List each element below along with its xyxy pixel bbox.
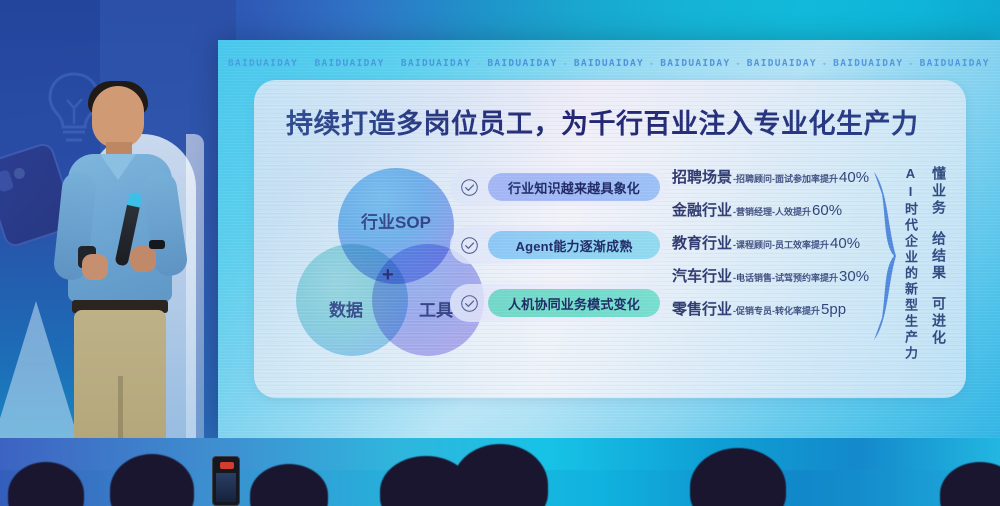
- speaker-hand-left: [82, 254, 108, 280]
- circle-check-icon: [460, 294, 479, 313]
- industry-detail: -招聘顾问-面试参加率提升: [733, 172, 838, 185]
- slide-content-card: 持续打造多岗位员工，为千行百业注入专业化生产力 行业SOP 数据 工具 +: [254, 80, 966, 398]
- trend-pill-label: 人机协同业务模式变化: [488, 289, 660, 317]
- screenshot-root: BAIDUAIDAY✦BAIDUAIDAY✦BAIDUAIDAY✦BAIDUAI…: [0, 0, 1000, 506]
- watermark-word: BAIDUAIDAY: [487, 58, 557, 69]
- industry-detail: -促销专员-转化率提升: [733, 304, 820, 317]
- industry-metric: 30%: [839, 268, 869, 285]
- industry-result-row: 招聘场景 -招聘顾问-面试参加率提升 40%: [672, 166, 898, 199]
- watermark-separator-icon: ✦: [649, 59, 655, 68]
- industry-metric: 60%: [812, 202, 842, 219]
- watermark-word: BAIDUAIDAY: [574, 58, 644, 69]
- venn-plus-operator: +: [382, 264, 394, 287]
- speaker-hand-right: [130, 246, 156, 272]
- trend-pill-label: 行业知识越来越具象化: [488, 173, 660, 201]
- industry-detail: -课程顾问-员工效率提升: [733, 238, 829, 251]
- phone-camera-lens-secondary: [12, 166, 26, 180]
- phone-camera-lens: [0, 169, 14, 192]
- watermark-word: BAIDUAIDAY: [314, 58, 384, 69]
- brace-arrow-icon: [872, 168, 900, 344]
- watermark-word: BAIDUAIDAY: [833, 58, 903, 69]
- watermark-word: BAIDUAIDAY: [660, 58, 730, 69]
- slide-title: 持续打造多岗位员工，为千行百业注入专业化生产力: [286, 102, 919, 141]
- watermark-separator-icon: ✦: [563, 59, 569, 68]
- industry-result-row: 教育行业 -课程顾问-员工效率提升 40%: [672, 232, 898, 265]
- watermark-separator-icon: ✦: [736, 59, 742, 68]
- venn-label-data: 数据: [329, 296, 363, 321]
- industry-result-row: 汽车行业 -电话销售-试驾预约率提升 30%: [672, 265, 898, 298]
- industry-name: 汽车行业: [672, 265, 732, 286]
- watermark-word: BAIDUAIDAY: [401, 58, 471, 69]
- industry-metric: 40%: [830, 235, 860, 252]
- industry-result-list: 招聘场景 -招聘顾问-面试参加率提升 40% 金融行业 -营销经理-人效提升 6…: [672, 166, 898, 331]
- vertical-trait-item: 懂业务: [932, 166, 946, 217]
- phone-screen: [216, 473, 236, 502]
- watermark-separator-icon: ✦: [822, 59, 828, 68]
- venn-label-sop: 行业SOP: [361, 208, 431, 233]
- watermark-separator-icon: ✦: [303, 59, 309, 68]
- circle-check-icon: [460, 236, 479, 255]
- record-indicator-icon: [220, 462, 234, 469]
- watermark-separator-icon: ✦: [390, 59, 396, 68]
- industry-result-row: 金融行业 -营销经理-人效提升 60%: [672, 199, 898, 232]
- vertical-label-outcome: AI时代企业的新型生产力: [904, 166, 917, 362]
- industry-detail: -电话销售-试驾预约率提升: [733, 271, 838, 284]
- vertical-trait-item: 可进化: [932, 296, 946, 347]
- trend-pill-list: 行业知识越来越具象化 Agent能力逐渐成熟 人机协同业务模式变化: [450, 168, 668, 342]
- venn-label-tool: 工具: [419, 296, 453, 321]
- vertical-label-traits: 懂业务给结果可进化: [932, 166, 946, 347]
- audience-recording-phone: [212, 456, 240, 506]
- watermark-separator-icon: ✦: [476, 59, 482, 68]
- trend-pill-item: 人机协同业务模式变化: [450, 284, 668, 322]
- industry-metric: 5pp: [821, 301, 846, 318]
- watermark-separator-icon: ✦: [908, 59, 914, 68]
- speaker-wristwatch: [149, 240, 165, 249]
- trend-pill-item: 行业知识越来越具象化: [450, 168, 668, 206]
- speaker-head: [92, 86, 144, 148]
- industry-name: 教育行业: [672, 232, 732, 253]
- watermark-word: BAIDUAIDAY: [747, 58, 817, 69]
- watermark-word: BAIDUAIDAY: [228, 58, 298, 69]
- industry-name: 零售行业: [672, 298, 732, 319]
- circle-check-icon: [460, 178, 479, 197]
- trend-pill-item: Agent能力逐渐成熟: [450, 226, 668, 264]
- industry-detail: -营销经理-人效提升: [733, 205, 811, 218]
- industry-name: 金融行业: [672, 199, 732, 220]
- industry-metric: 40%: [839, 169, 869, 186]
- vertical-trait-item: 给结果: [932, 231, 946, 282]
- watermark-word: BAIDUAIDAY: [920, 58, 990, 69]
- industry-name: 招聘场景: [672, 166, 732, 187]
- projection-screen: BAIDUAIDAY✦BAIDUAIDAY✦BAIDUAIDAY✦BAIDUAI…: [218, 40, 1000, 438]
- trend-pill-label: Agent能力逐渐成熟: [488, 231, 660, 259]
- slide-watermark-strip: BAIDUAIDAY✦BAIDUAIDAY✦BAIDUAIDAY✦BAIDUAI…: [228, 58, 990, 69]
- industry-result-row: 零售行业 -促销专员-转化率提升 5pp: [672, 298, 898, 331]
